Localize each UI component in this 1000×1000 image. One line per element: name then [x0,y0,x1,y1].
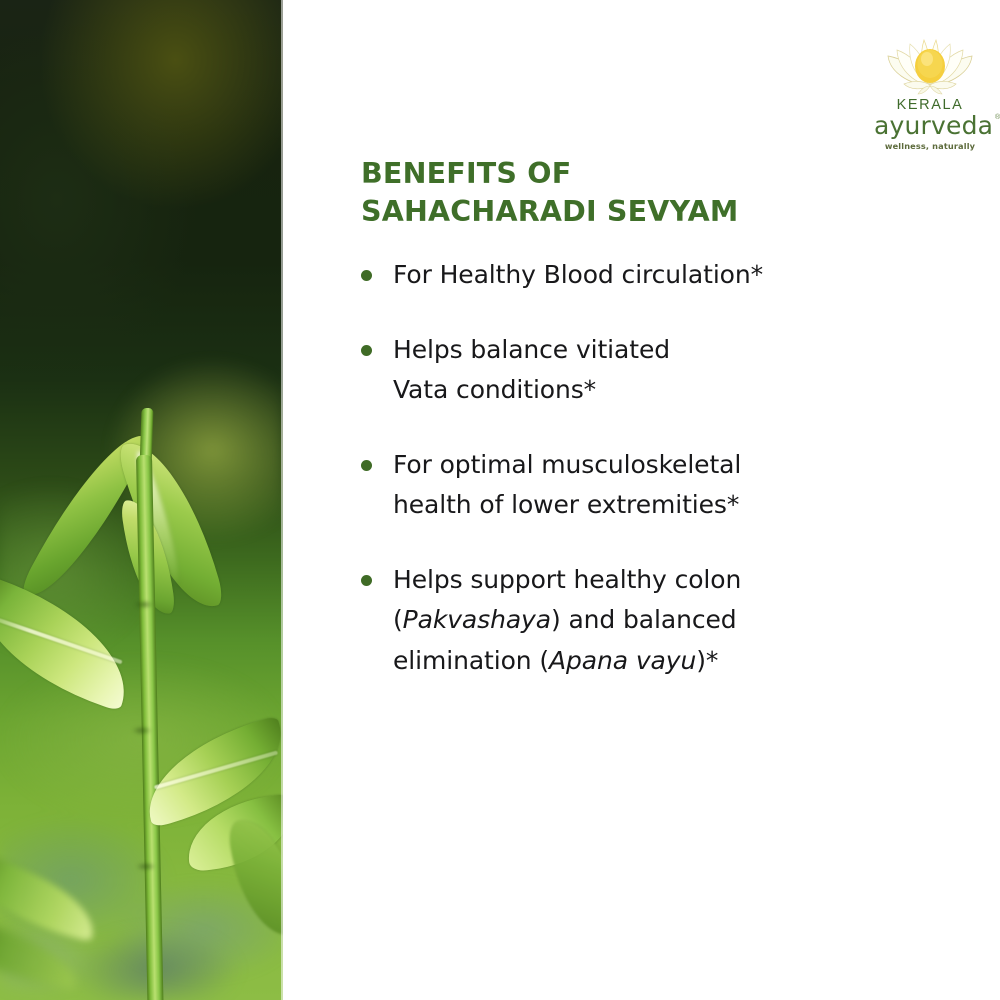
content-panel: KERALA ayurveda ® wellness, naturally BE… [283,0,1000,1000]
logo-tagline: wellness, naturally [874,141,986,151]
tea-stem-node [132,726,152,735]
benefit-item-vata-balance: Helps balance vitiatedVata conditions* [361,330,941,411]
benefit-text-run: For optimal musculoskeletal [393,450,741,479]
bullet-icon [361,460,372,471]
benefit-line: (Pakvashaya) and balanced [393,600,941,641]
tea-stem-node [134,600,154,609]
promo-graphic: KERALA ayurveda ® wellness, naturally BE… [0,0,1000,1000]
benefit-line: Vata conditions* [393,370,941,411]
benefit-line: For Healthy Blood circulation* [393,255,941,296]
benefit-line: Helps support healthy colon [393,560,941,601]
bullet-icon [361,345,372,356]
page-title-line-1: BENEFITS OF [361,155,821,193]
benefit-text-run: ( [393,605,403,634]
benefit-item-musculoskeletal: For optimal musculoskeletalhealth of low… [361,445,941,526]
sanskrit-term: Apana vayu [549,646,696,675]
benefit-text-run: elimination ( [393,646,549,675]
bullet-icon [361,575,372,586]
sanskrit-term: Pakvashaya [403,605,551,634]
logo-ayurveda-wrap: ayurveda ® [874,113,993,139]
benefits-list: For Healthy Blood circulation*Helps bala… [361,255,941,681]
benefit-line: health of lower extremities* [393,485,941,526]
benefit-line: elimination (Apana vayu)* [393,641,941,682]
benefit-text-run: Vata conditions* [393,375,596,404]
tea-plant-photo [0,0,283,1000]
page-title-line-2: SAHACHARADI SEVYAM [361,193,821,231]
brand-logo: KERALA ayurveda ® wellness, naturally [874,28,986,151]
page-title: BENEFITS OF SAHACHARADI SEVYAM [361,155,821,231]
benefit-text-run: For Healthy Blood circulation* [393,260,763,289]
benefit-line: Helps balance vitiated [393,330,941,371]
bullet-icon [361,270,372,281]
benefit-line: For optimal musculoskeletal [393,445,941,486]
benefit-text-run: Helps balance vitiated [393,335,670,364]
tea-stem-node [136,862,156,871]
benefit-text-run: Helps support healthy colon [393,565,741,594]
registered-trademark-icon: ® [995,114,1000,121]
benefit-item-blood-circulation: For Healthy Blood circulation* [361,255,941,296]
lotus-flower-icon [882,28,978,96]
logo-ayurveda-text: ayurveda [874,111,993,140]
benefit-item-colon-elimination: Helps support healthy colon(Pakvashaya) … [361,560,941,682]
benefit-text-run: ) and balanced [551,605,737,634]
benefit-text-run: )* [696,646,718,675]
benefit-text-run: health of lower extremities* [393,490,739,519]
